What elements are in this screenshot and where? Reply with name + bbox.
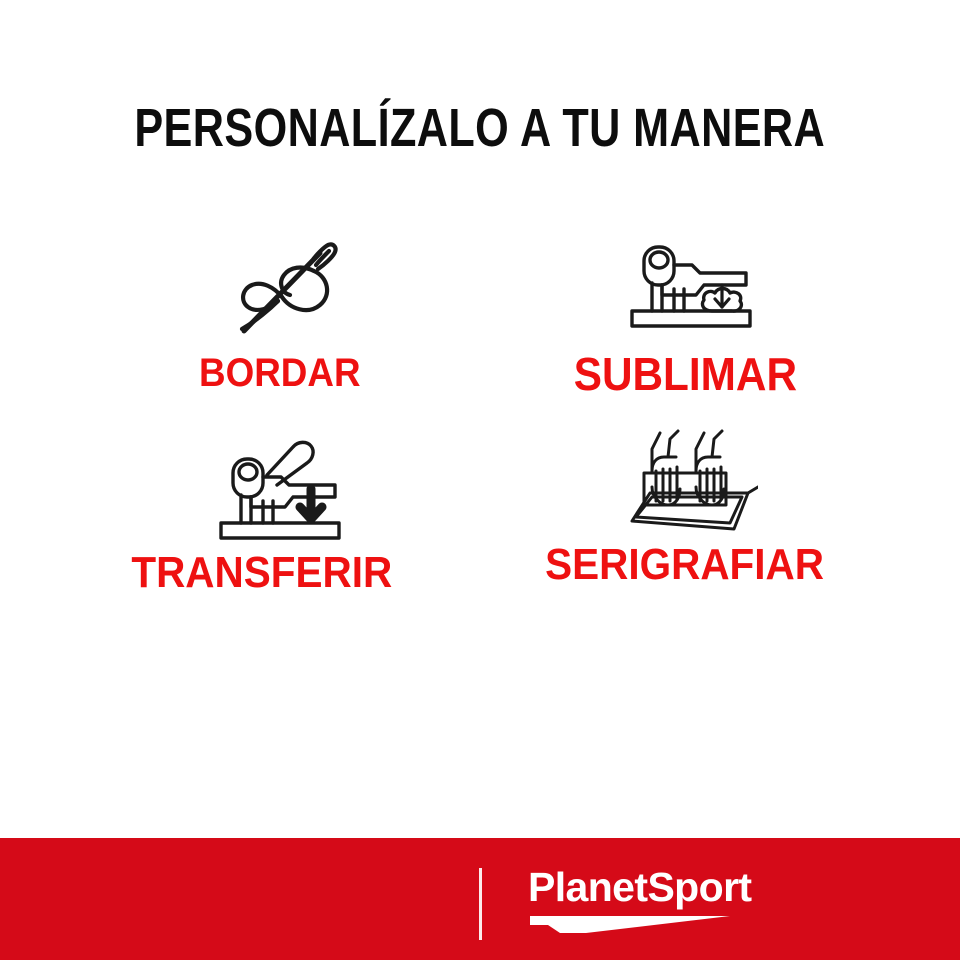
heat-press-steam-icon [626, 235, 756, 335]
vertical-divider [479, 868, 482, 940]
footer-bar: PlanetSport [0, 838, 960, 960]
brand-lockup[interactable]: PlanetSport [528, 865, 748, 935]
methods-grid: BORDAR [70, 235, 890, 607]
needle-and-thread-icon [228, 235, 340, 335]
footer-content: PlanetSport [0, 838, 960, 960]
method-label-serigrafiar: SERIGRAFIAR [546, 543, 825, 587]
method-label-bordar: BORDAR [199, 353, 361, 393]
title-container: PERSONALÍZALO A TU MANERA [0, 98, 960, 158]
heat-press-lever-arrow-icon [215, 437, 345, 537]
method-card-sublimar[interactable]: SUBLIMAR [480, 235, 890, 415]
method-card-serigrafiar[interactable]: SERIGRAFIAR [480, 427, 890, 607]
method-label-sublimar: SUBLIMAR [573, 351, 796, 397]
page-title: PERSONALÍZALO A TU MANERA [135, 98, 826, 158]
poster-canvas: PERSONALÍZALO A TU MANERA [0, 0, 960, 960]
brand-name: PlanetSport [528, 865, 748, 909]
method-label-transferir: TRANSFERIR [132, 551, 393, 595]
method-card-transferir[interactable]: TRANSFERIR [70, 427, 480, 607]
planetsport-swoosh-icon [528, 913, 732, 935]
method-card-bordar[interactable]: BORDAR [70, 235, 480, 415]
screen-printing-squeegee-hands-icon [622, 431, 758, 531]
